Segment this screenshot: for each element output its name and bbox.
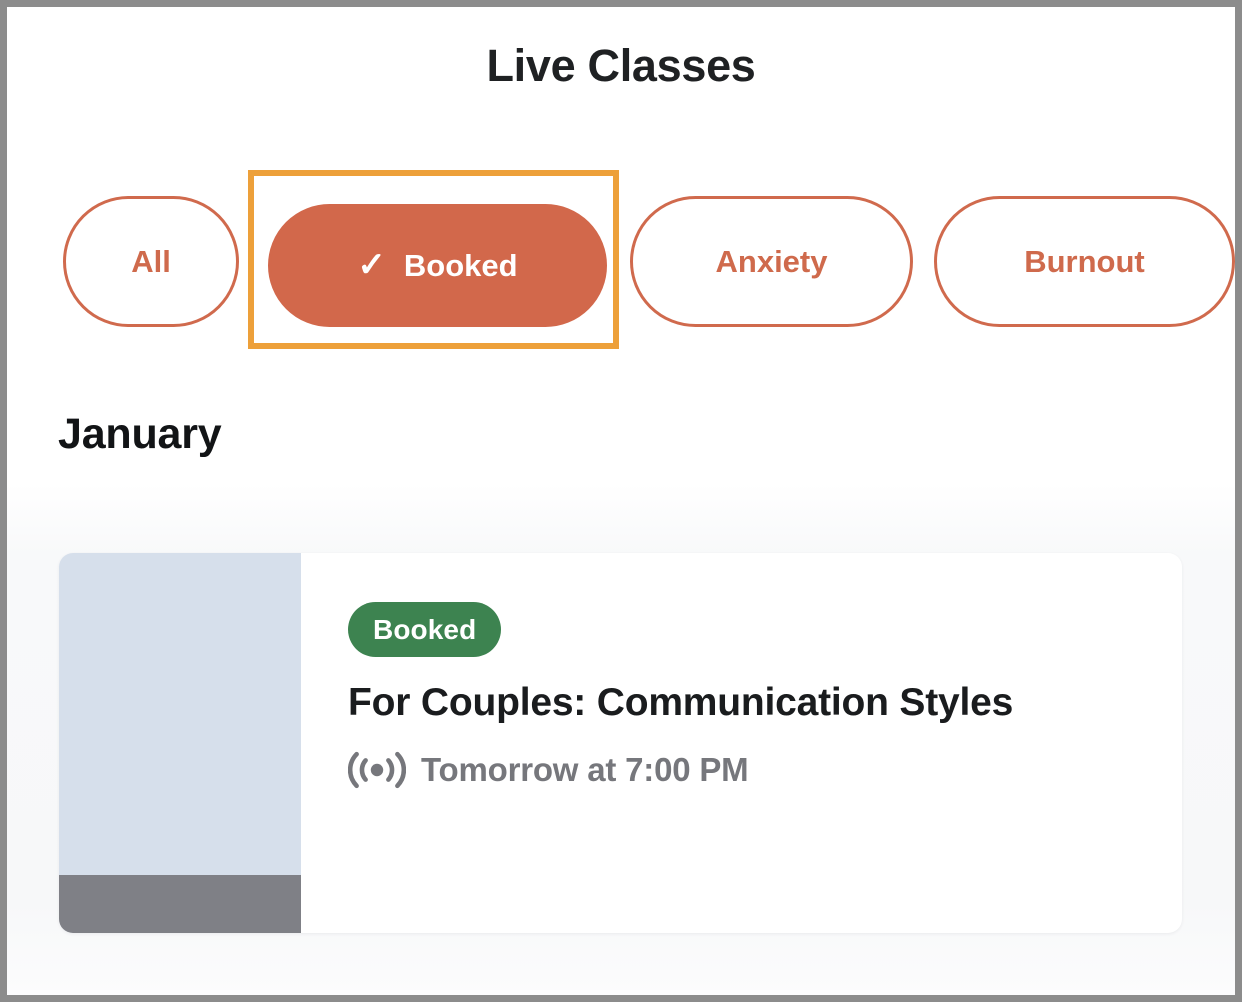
thumbnail-footer-band <box>59 875 301 933</box>
filter-chip-burnout[interactable]: Burnout <box>934 196 1235 327</box>
filter-chip-anxiety-label: Anxiety <box>716 244 828 280</box>
check-icon: ✓ <box>357 248 386 282</box>
class-card[interactable]: Booked For Couples: Communication Styles… <box>59 553 1182 933</box>
broadcast-live-icon <box>348 748 406 792</box>
focus-ring-booked-chip: ✓ Booked <box>248 170 619 349</box>
filter-chip-all[interactable]: All <box>63 196 239 327</box>
class-thumbnail-image <box>59 553 301 933</box>
filter-chip-row: All ✓ Booked Anxiety Burnout <box>7 170 1235 355</box>
filter-chip-booked-label: Booked <box>404 248 518 284</box>
page-title: Live Classes <box>7 40 1235 92</box>
class-card-body: Booked For Couples: Communication Styles… <box>301 553 1182 933</box>
app-window: Live Classes All ✓ Booked Anxiety Burnou… <box>7 7 1235 995</box>
filter-chip-booked[interactable]: ✓ Booked <box>268 204 607 327</box>
class-title: For Couples: Communication Styles <box>348 680 1048 726</box>
filter-chip-anxiety[interactable]: Anxiety <box>630 196 913 327</box>
class-time-row: Tomorrow at 7:00 PM <box>348 748 1182 792</box>
filter-chip-all-label: All <box>131 244 171 280</box>
month-section-header: January <box>58 410 222 459</box>
status-badge: Booked <box>348 602 501 657</box>
class-time-text: Tomorrow at 7:00 PM <box>421 751 748 789</box>
class-list[interactable]: Booked For Couples: Communication Styles… <box>7 483 1235 995</box>
filter-chip-burnout-label: Burnout <box>1024 244 1145 280</box>
